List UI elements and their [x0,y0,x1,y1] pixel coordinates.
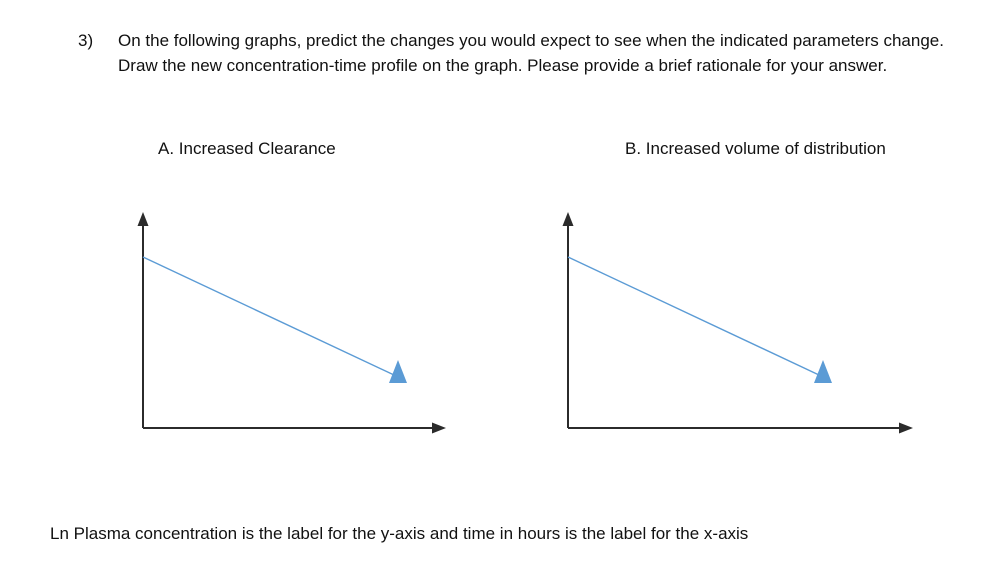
y-axis-arrowhead-icon [138,212,149,226]
curve-arrowhead-icon [814,360,832,383]
curve-arrowhead-icon [389,360,407,383]
part-b-label: B. Increased volume of distribution [625,137,886,161]
axis-label-caption: Ln Plasma concentration is the label for… [50,522,748,546]
question-number: 3) [78,28,118,53]
graph-b-concentration-curve [568,257,832,383]
question-block: 3) On the following graphs, predict the … [78,28,968,78]
graph-a-x-axis [143,423,446,434]
graph-a-concentration-curve [143,257,407,383]
y-axis-arrowhead-icon [563,212,574,226]
graph-a [128,200,458,445]
graph-b-canvas [553,200,883,445]
question-text: On the following graphs, predict the cha… [118,28,968,78]
graph-b-x-axis [568,423,913,434]
graph-b [553,200,883,445]
x-axis-arrowhead-icon [432,423,446,434]
graph-a-y-axis [138,212,149,428]
graph-b-y-axis [563,212,574,428]
x-axis-arrowhead-icon [899,423,913,434]
part-a-label: A. Increased Clearance [158,137,336,161]
graph-a-canvas [128,200,458,445]
